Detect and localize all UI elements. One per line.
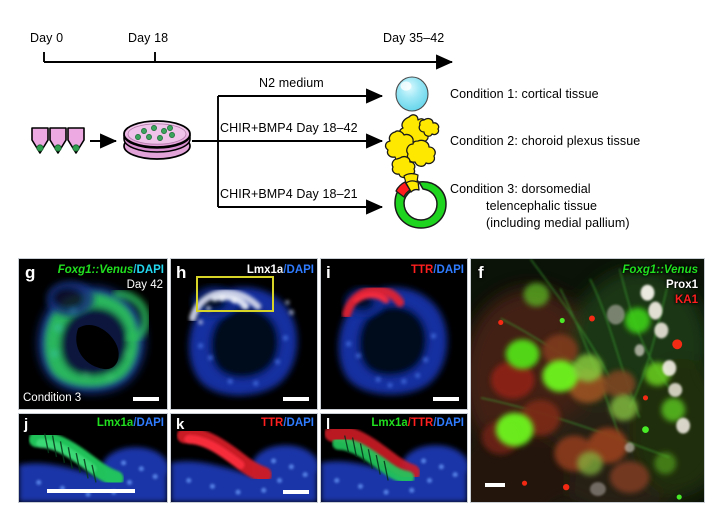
culture-dish-icon <box>124 121 190 159</box>
treatment-label-condition-2: CHIR+BMP4 Day 18–42 <box>220 121 358 136</box>
outcome-label-condition-3-line-2: telencephalic tissue <box>486 199 597 214</box>
panel-g-channel-legend: Foxg1::Venus/DAPI <box>58 264 164 277</box>
panel-k-letter: k <box>176 416 184 433</box>
panel-k-channel-legend: TTR/DAPI <box>261 417 314 430</box>
panel-g[interactable]: g Foxg1::Venus/DAPI Day 42 Condition 3 <box>18 258 168 410</box>
panel-j-scale-bar <box>47 489 135 493</box>
treatment-label-condition-1: N2 medium <box>259 76 324 91</box>
panel-k-scale-bar <box>283 490 309 494</box>
panel-j-channel-legend: Lmx1a/DAPI <box>97 417 164 430</box>
panel-f[interactable]: f Foxg1::Venus Prox1 KA1 <box>470 258 705 503</box>
panel-h-inset-box <box>196 276 274 312</box>
panel-g-scale-bar <box>133 397 159 401</box>
panel-h[interactable]: h Lmx1a/DAPI <box>170 258 318 410</box>
timeline-tick-day-35-42: Day 35–42 <box>383 31 444 46</box>
panel-l-channel-legend: Lmx1a/TTR/DAPI <box>371 417 464 430</box>
timeline-tick-day-18: Day 18 <box>128 31 168 46</box>
panel-i[interactable]: i TTR/DAPI <box>320 258 468 410</box>
figure-root: Day 0 Day 18 Day 35–42 N2 medium CHIR+BM… <box>0 0 716 510</box>
panel-i-channel-legend: TTR/DAPI <box>411 264 464 277</box>
panel-i-letter: i <box>326 263 331 283</box>
panel-h-scale-bar <box>283 397 309 401</box>
outcome-label-condition-3-line-3: (including medial pallium) <box>486 216 630 231</box>
panel-i-image <box>321 259 467 409</box>
treatment-label-condition-3: CHIR+BMP4 Day 18–21 <box>220 187 358 202</box>
panel-h-channel-legend: Lmx1a/DAPI <box>247 264 314 277</box>
panel-f-scale-bar <box>485 483 505 487</box>
panel-i-scale-bar <box>433 397 459 401</box>
panel-l[interactable]: l Lmx1a/TTR/DAPI <box>320 413 468 503</box>
outcome-label-condition-3-line-1: Condition 3: dorsomedial <box>450 182 591 197</box>
cyan-sphere-icon <box>396 77 428 111</box>
panel-g-day-label: Day 42 <box>127 279 163 291</box>
micrograph-grid: g Foxg1::Venus/DAPI Day 42 Condition 3 <box>0 245 716 510</box>
panel-g-letter: g <box>25 263 35 283</box>
panel-f-letter: f <box>478 263 484 283</box>
panel-h-letter: h <box>176 263 186 283</box>
protocol-schematic: Day 0 Day 18 Day 35–42 N2 medium CHIR+BM… <box>0 0 716 245</box>
timeline-axis <box>44 52 452 62</box>
panel-j[interactable]: j Lmx1a/DAPI <box>18 413 168 503</box>
schematic-vector-layer <box>0 0 716 245</box>
timeline-tick-day-0: Day 0 <box>30 31 63 46</box>
panel-k[interactable]: k TTR/DAPI <box>170 413 318 503</box>
panel-f-legend: Foxg1::Venus Prox1 KA1 <box>622 264 698 307</box>
outcome-label-condition-1: Condition 1: cortical tissue <box>450 87 599 102</box>
panel-g-condition-label: Condition 3 <box>23 392 81 404</box>
yellow-villous-choroid-plexus-icon <box>386 115 439 178</box>
panel-l-letter: l <box>326 416 330 433</box>
three-v-bottom-wells-icon <box>32 128 84 153</box>
panel-j-letter: j <box>24 416 28 433</box>
green-c-ring-telencephalon-icon <box>395 174 446 228</box>
outcome-label-condition-2: Condition 2: choroid plexus tissue <box>450 134 640 149</box>
